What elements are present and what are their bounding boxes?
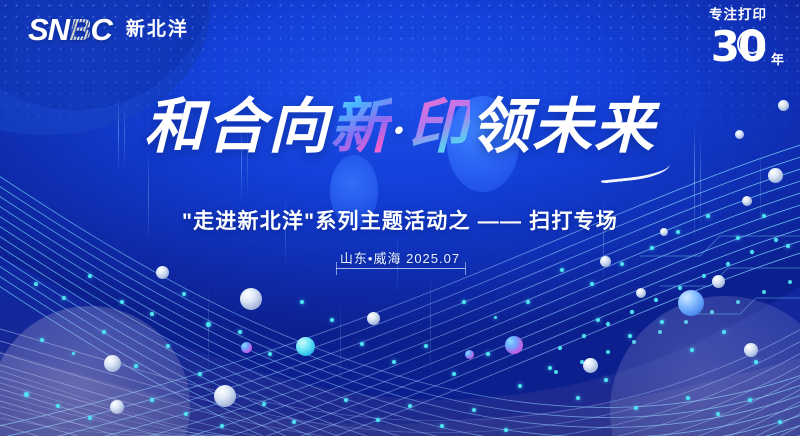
title-seg-5: 领未来 (470, 92, 656, 162)
floating-sphere (110, 400, 124, 414)
particle-dot (40, 338, 44, 342)
event-subtitle: "走进新北洋"系列主题活动之 —— 扫打专场 (0, 205, 800, 235)
particle-dot (392, 360, 396, 364)
particle-dot (604, 378, 608, 382)
title-seg-yin: 印 (408, 92, 470, 162)
logo-sn: SN (28, 12, 69, 47)
event-dateline: 山东•威海 2025.07 (0, 248, 800, 268)
floating-sphere (367, 312, 380, 325)
floating-sphere (240, 288, 262, 310)
particle-dot (560, 268, 564, 272)
event-main-title: 和合向新·印领未来 (144, 96, 656, 159)
particle-dot (778, 420, 782, 424)
floating-sphere (104, 355, 121, 372)
particle-dot (182, 292, 186, 296)
particle-dot (660, 320, 664, 324)
particle-dot (518, 384, 522, 388)
particle-dot (330, 318, 334, 322)
event-dateline-text: 山东•威海 2025.07 (340, 251, 460, 266)
anniversary-tagline: 专注打印 (690, 8, 786, 23)
lower-right-glass-circle (610, 296, 800, 436)
particle-dot (166, 344, 170, 348)
anniversary-number-wrap: 30 年 (690, 24, 786, 70)
floating-sphere (636, 288, 646, 298)
anniversary-unit: 年 (771, 49, 784, 68)
floating-sphere (214, 385, 236, 407)
particle-dot (206, 322, 211, 327)
particle-dot (736, 236, 740, 240)
particle-dot (452, 372, 456, 376)
particle-dot (690, 348, 694, 352)
particle-dot (34, 282, 38, 286)
event-poster: SNBC 新北洋 专注打印 30 年 和合向新·印领未来 "走进新北洋"系列主题… (0, 0, 800, 436)
particle-dot (292, 420, 296, 424)
floating-sphere (505, 336, 523, 354)
particle-dot (344, 398, 348, 402)
title-seg-xin: 新 (330, 92, 392, 162)
brand-lockup[interactable]: SNBC 新北洋 (28, 14, 189, 45)
particle-dot (526, 300, 530, 304)
company-name-cn: 新北洋 (126, 20, 189, 39)
particle-dot (56, 404, 60, 408)
dateline-rule (336, 268, 466, 269)
logo-b: B (69, 12, 90, 47)
floating-sphere (465, 350, 474, 359)
floating-sphere (296, 337, 315, 356)
snbc-logo-icon[interactable]: SNBC (28, 14, 112, 45)
particle-dot (150, 312, 154, 316)
particle-dot (424, 344, 428, 348)
particle-dot (300, 300, 304, 304)
title-seg-1: 和合向 (144, 92, 330, 162)
hero-title-block: 和合向新·印领未来 (0, 96, 800, 159)
floating-sphere (768, 168, 783, 183)
particle-dot (596, 318, 600, 322)
floating-sphere (241, 342, 252, 353)
particle-dot (748, 398, 752, 402)
particle-dot (268, 352, 272, 356)
particle-dot (494, 316, 497, 319)
floating-sphere (583, 358, 598, 373)
particle-dot (238, 330, 242, 334)
particle-dot (486, 352, 490, 356)
particle-dot (440, 424, 444, 428)
light-streak (208, 288, 209, 378)
particle-dot (628, 334, 632, 338)
particle-dot (754, 360, 758, 364)
particle-dot (24, 392, 29, 397)
floating-sphere (678, 290, 704, 316)
particle-dot (72, 352, 75, 355)
particle-dot (360, 342, 364, 346)
particle-dot (408, 404, 412, 408)
particle-dot (184, 412, 188, 416)
particle-dot (686, 396, 690, 400)
light-streak (430, 270, 431, 380)
light-streak (340, 300, 341, 386)
floating-sphere (712, 275, 725, 288)
particle-dot (150, 398, 154, 402)
particle-dot (634, 406, 638, 410)
particle-dot (716, 412, 720, 416)
particle-dot (548, 366, 552, 370)
particle-dot (198, 372, 202, 376)
title-seg-dot: · (392, 108, 408, 155)
lower-left-glass-circle (0, 306, 190, 436)
particle-dot (62, 296, 66, 300)
particle-dot (722, 330, 726, 334)
particle-dot (376, 418, 380, 422)
particle-dot (576, 396, 580, 400)
floating-sphere (744, 343, 758, 357)
wave-mesh-graphic (0, 136, 800, 436)
particle-dot (462, 300, 466, 304)
particle-dot (472, 408, 476, 412)
particle-dot (88, 416, 92, 420)
particle-dot (120, 300, 124, 304)
logo-c: C (90, 12, 111, 47)
particle-dot (590, 282, 594, 286)
particle-dot (504, 428, 508, 432)
particle-dot (102, 330, 106, 334)
particle-dot (88, 274, 92, 278)
particle-dot (262, 402, 266, 406)
particle-dot (134, 364, 138, 368)
particle-dot (220, 424, 224, 428)
anniversary-badge: 专注打印 30 年 (690, 8, 786, 70)
